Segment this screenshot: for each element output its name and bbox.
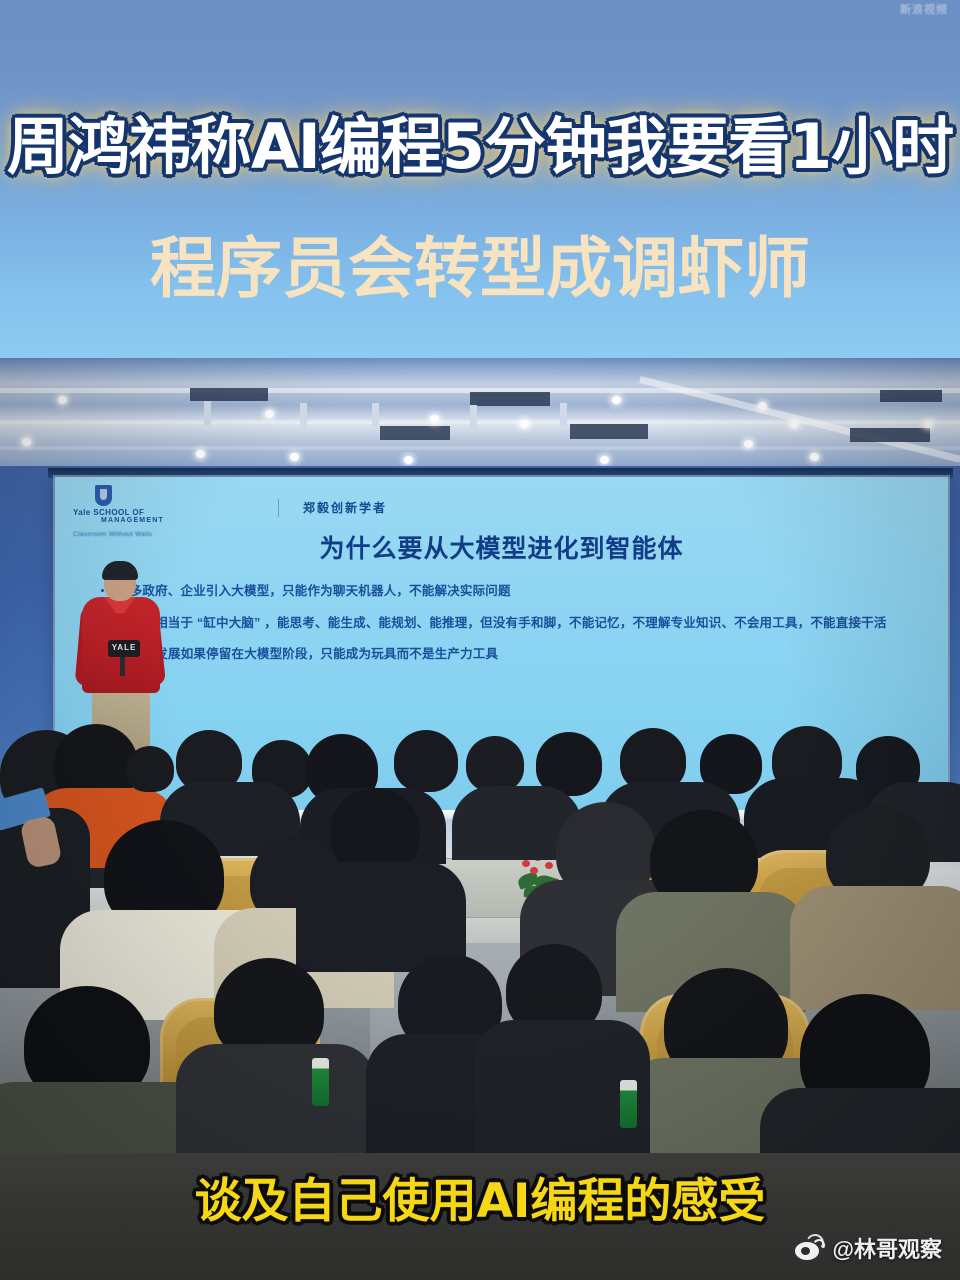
slide-title: 为什么要从大模型进化到智能体: [55, 529, 948, 565]
headline-banner: 新浪视频 周鸿祎称AI编程5分钟我要看1小时 程序员会转型成调虾师: [0, 0, 960, 358]
logo-divider: [278, 499, 279, 517]
weibo-logo-icon: [795, 1236, 825, 1260]
water-bottle: [620, 1080, 637, 1128]
audience-shoulders: [176, 1044, 376, 1153]
slide-bullet-list: 很多政府、企业引入大模型，只能作为聊天机器人，不能解决实际问题 大模型相当于 “…: [97, 581, 907, 676]
audience-head: [394, 730, 458, 792]
weibo-handle: @林哥观察: [833, 1232, 942, 1264]
subtitle-caption: 谈及自己使用AI编程的感受: [0, 1178, 960, 1225]
microphone-flag: YALE: [108, 640, 140, 657]
yale-shield-icon: [95, 485, 112, 506]
headline-primary: 周鸿祎称AI编程5分钟我要看1小时: [0, 116, 960, 178]
slide-bullet: 所以AI发展如果停留在大模型阶段，只能成为玩具而不是生产力工具: [97, 644, 907, 665]
audience-shoulders: [760, 1088, 960, 1153]
microphone-stem: [120, 656, 125, 676]
logo-line-1: Yale SCHOOL OF: [73, 508, 263, 517]
audience-head: [126, 746, 174, 792]
video-frame-screenshot: 新浪视频 周鸿祎称AI编程5分钟我要看1小时 程序员会转型成调虾师: [0, 0, 960, 1280]
source-watermark: 新浪视频: [900, 1, 948, 17]
org-label: 郑毅创新学者: [303, 499, 387, 516]
audience-shoulders: [790, 886, 960, 1010]
logo-line-2: MANAGEMENT: [101, 517, 271, 524]
speaker-glasses-icon: [105, 578, 135, 585]
slide-bullet: 很多政府、企业引入大模型，只能作为聊天机器人，不能解决实际问题: [97, 581, 907, 602]
microphone-label: YALE: [110, 643, 138, 652]
water-bottle: [312, 1058, 329, 1106]
weibo-watermark: @林哥观察: [795, 1232, 942, 1264]
slide-bullet: 大模型相当于 “缸中大脑” ，能思考、能生成、能规划、能推理，但没有手和脚，不能…: [97, 613, 907, 634]
headline-secondary: 程序员会转型成调虾师: [0, 236, 960, 302]
audience-head: [466, 736, 524, 792]
video-still: Yale SCHOOL OF MANAGEMENT Classroom With…: [0, 358, 960, 1153]
ceiling: [0, 358, 960, 476]
